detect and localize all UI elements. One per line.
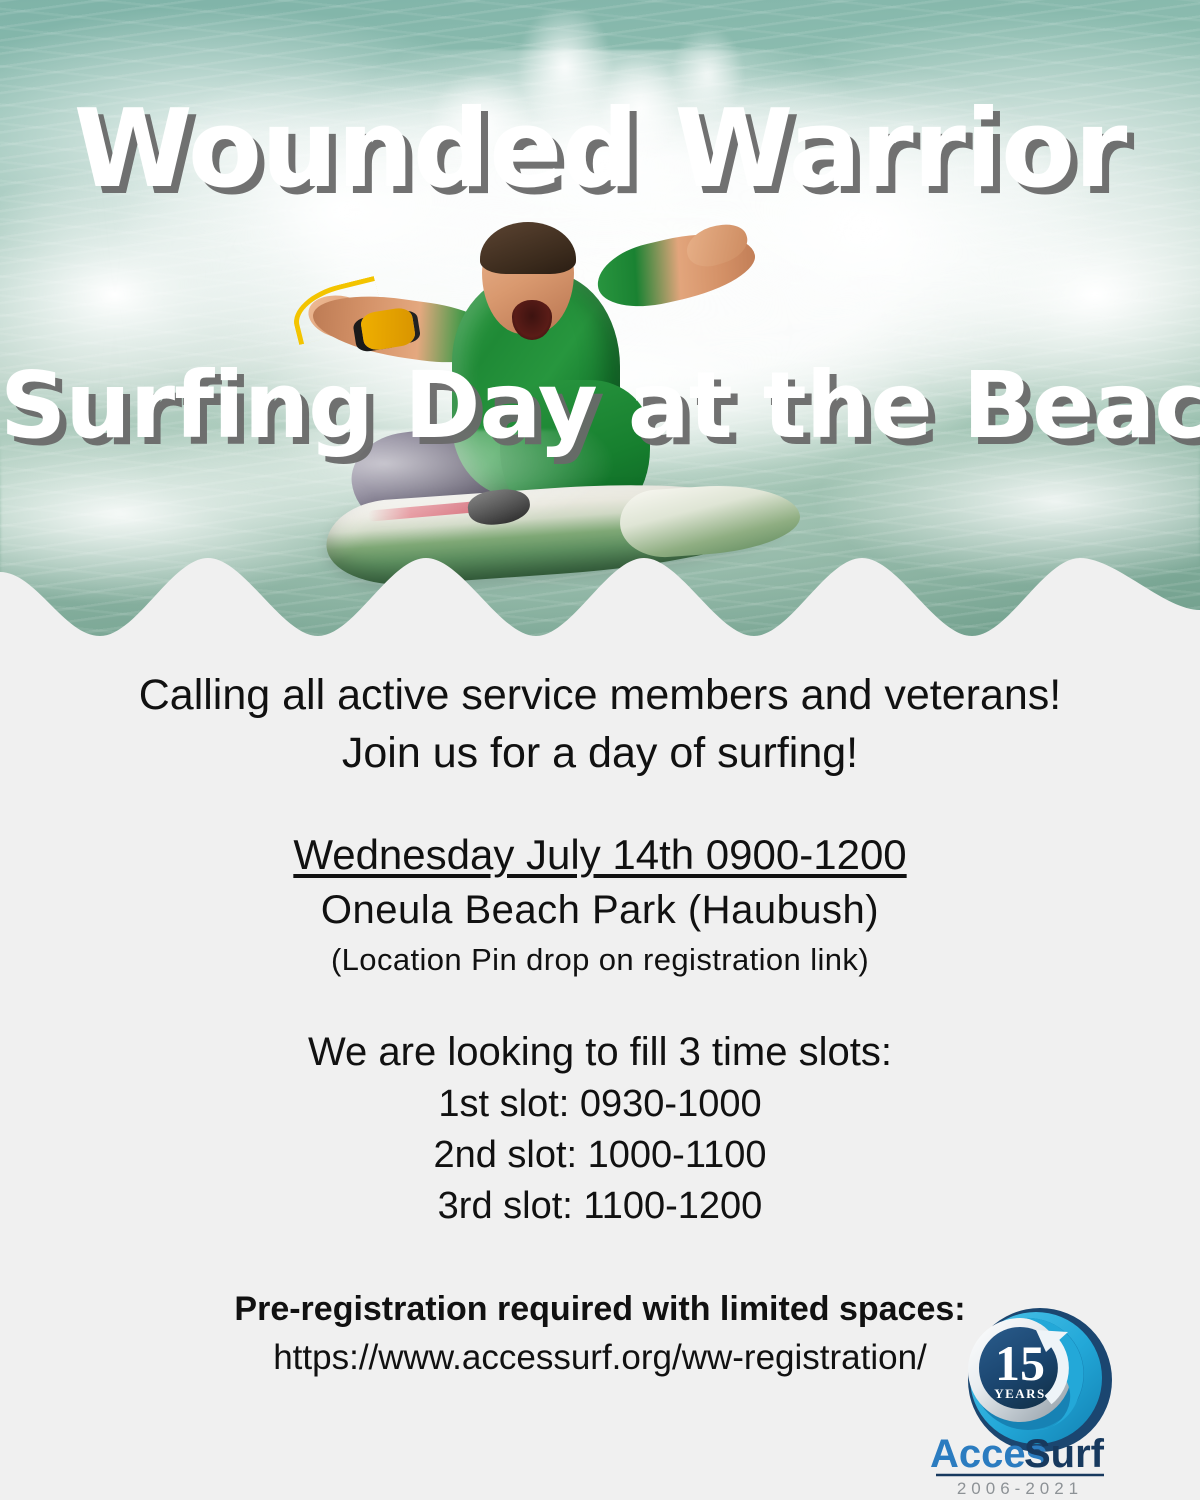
accessurf-logo: 15 YEARS Acces Surf 2006-2021 xyxy=(928,1302,1126,1498)
intro-line-1: Calling all active service members and v… xyxy=(0,666,1200,724)
poster-canvas: Wounded Warrior Surfing Day at the Beach… xyxy=(0,0,1200,1500)
logo-years-range: 2006-2021 xyxy=(957,1479,1083,1498)
event-details-block: Wednesday July 14th 0900-1200 Oneula Bea… xyxy=(0,827,1200,983)
event-date: Wednesday July 14th 0900-1200 xyxy=(0,827,1200,883)
time-slot-item-2: 2nd slot: 1000-1100 xyxy=(0,1130,1200,1181)
event-location: Oneula Beach Park (Haubush) xyxy=(0,883,1200,937)
accessurf-logo-graphic: 15 YEARS Acces Surf 2006-2021 xyxy=(928,1302,1126,1498)
time-slot-item-1: 1st slot: 0930-1000 xyxy=(0,1079,1200,1130)
poster-title-line-1: Wounded Warrior xyxy=(0,96,1200,204)
intro-line-2: Join us for a day of surfing! xyxy=(0,724,1200,782)
event-location-note: (Location Pin drop on registration link) xyxy=(0,937,1200,983)
logo-wordmark-surf: Surf xyxy=(1024,1432,1105,1476)
poster-title-line-2: Surfing Day at the Beach xyxy=(0,360,1200,452)
time-slots-heading: We are looking to fill 3 time slots: xyxy=(0,1026,1200,1079)
time-slots-block: We are looking to fill 3 time slots: 1st… xyxy=(0,1026,1200,1232)
intro-block: Calling all active service members and v… xyxy=(0,666,1200,782)
wave-divider xyxy=(0,540,1200,642)
logo-badge-number: 15 xyxy=(995,1335,1045,1391)
surfer-hair xyxy=(480,222,576,274)
logo-badge-unit: YEARS xyxy=(994,1386,1046,1401)
time-slot-item-3: 3rd slot: 1100-1200 xyxy=(0,1181,1200,1232)
